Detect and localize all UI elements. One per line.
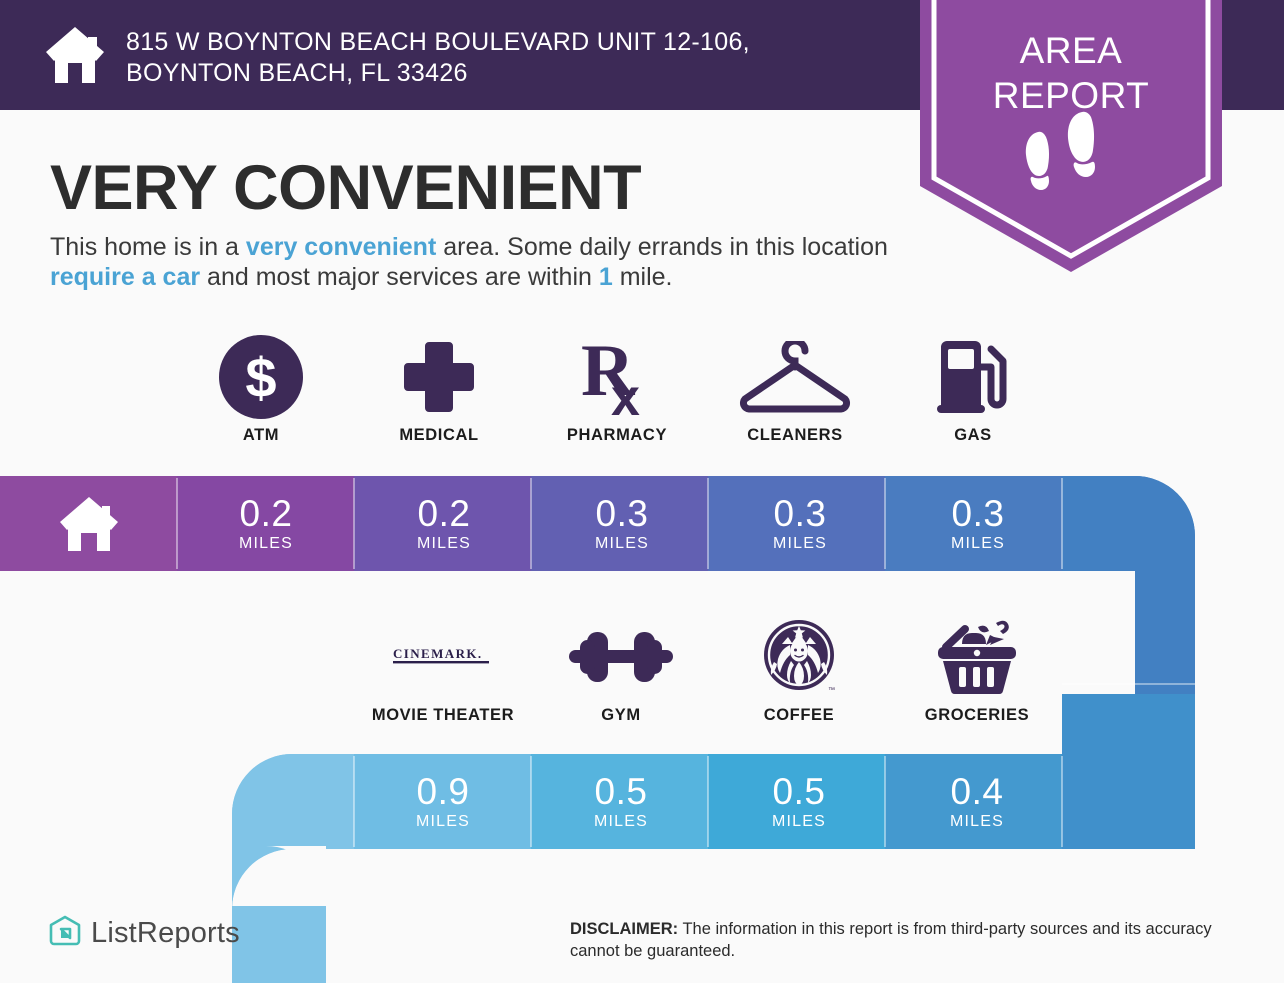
cinemark-logo-icon: CINEMARK.	[391, 618, 495, 696]
summary-highlight-2: require a car	[50, 263, 200, 291]
amenity-label: COFFEE	[764, 706, 835, 725]
svg-text:CINEMARK.: CINEMARK.	[393, 646, 483, 661]
amenity-gas: GAS	[884, 338, 1062, 445]
summary-part-3: and most major services are within	[200, 263, 599, 291]
amenity-icon-row-secondary: CINEMARK. MOVIE THEATER GYM	[354, 618, 1066, 725]
page-title: VERY CONVENIENT	[50, 152, 641, 224]
summary-part-1: This home is in a	[50, 233, 246, 261]
amenity-label: GAS	[954, 426, 992, 445]
gas-pump-icon	[935, 338, 1011, 416]
grocery-basket-icon	[932, 618, 1022, 696]
amenity-gym: GYM	[532, 618, 710, 725]
hanger-icon	[739, 338, 851, 416]
property-address: 815 W BOYNTON BEACH BOULEVARD UNIT 12-10…	[126, 27, 886, 89]
amenity-groceries: GROCERIES	[888, 618, 1066, 725]
summary-highlight-3: 1	[599, 263, 613, 291]
amenity-cleaners: CLEANERS	[706, 338, 884, 445]
home-icon	[44, 25, 106, 85]
svg-text:x: x	[611, 369, 640, 417]
amenity-label: GROCERIES	[925, 706, 1029, 725]
amenity-label: ATM	[243, 426, 279, 445]
disclaimer: DISCLAIMER: The information in this repo…	[570, 918, 1235, 962]
amenity-pharmacy: R x PHARMACY	[528, 338, 706, 445]
amenity-label: MEDICAL	[399, 426, 478, 445]
listreports-logo-text: ListReports	[91, 917, 240, 950]
summary-part-2: area. Some daily errands in this locatio…	[436, 233, 888, 261]
rx-icon: R x	[579, 338, 655, 416]
medical-cross-icon	[400, 338, 478, 416]
starbucks-logo-icon: ™	[760, 618, 838, 696]
amenity-label: CLEANERS	[747, 426, 843, 445]
summary-part-4: mile.	[613, 263, 673, 291]
band-shape	[0, 476, 1195, 983]
address-line-2: BOYNTON BEACH, FL 33426	[126, 58, 886, 89]
amenity-label: PHARMACY	[567, 426, 667, 445]
summary-text: This home is in a very convenient area. …	[50, 232, 920, 292]
home-marker-cell	[0, 476, 177, 571]
svg-text:$: $	[245, 346, 276, 409]
amenity-coffee: ™ COFFEE	[710, 618, 888, 725]
amenity-movie-theater: CINEMARK. MOVIE THEATER	[354, 618, 532, 725]
amenity-icon-row-primary: $ ATM MEDICAL R x PHARMACY	[172, 338, 1062, 445]
amenity-label: MOVIE THEATER	[372, 706, 514, 725]
svg-text:™: ™	[828, 687, 835, 694]
dumbbell-icon	[569, 618, 673, 696]
amenity-label: GYM	[601, 706, 640, 725]
area-report-page: 815 W BOYNTON BEACH BOULEVARD UNIT 12-10…	[0, 0, 1284, 983]
home-icon	[58, 495, 120, 553]
area-report-badge: AREA REPORT	[920, 0, 1222, 272]
address-line-1: 815 W BOYNTON BEACH BOULEVARD UNIT 12-10…	[126, 27, 886, 58]
listreports-logo: ListReports	[48, 915, 240, 951]
dollar-circle-icon: $	[219, 338, 303, 416]
disclaimer-label: DISCLAIMER:	[570, 920, 678, 938]
amenity-medical: MEDICAL	[350, 338, 528, 445]
summary-highlight-1: very convenient	[246, 233, 436, 261]
listreports-logo-icon	[48, 915, 82, 951]
amenity-atm: $ ATM	[172, 338, 350, 445]
